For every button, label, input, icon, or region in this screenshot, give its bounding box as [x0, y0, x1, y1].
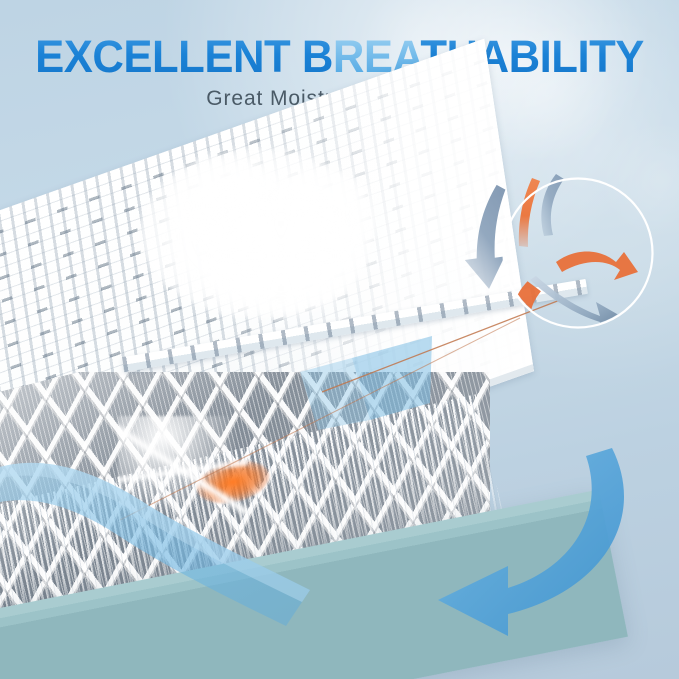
- light-bloom-tertiary-icon: [600, 120, 679, 240]
- heat-out-arrow: [556, 251, 638, 280]
- heat-stream-up: [519, 178, 540, 247]
- magnifier-ring: [504, 179, 653, 328]
- page-title: EXCELLENT BREATHABILITY: [10, 34, 669, 80]
- title-part-1: EXCELLENT B: [35, 31, 333, 82]
- airflow-arrow-curve-right: [541, 174, 564, 236]
- product-feature-image: EXCELLENT BREATHABILITY Great Moisture A…: [0, 0, 679, 679]
